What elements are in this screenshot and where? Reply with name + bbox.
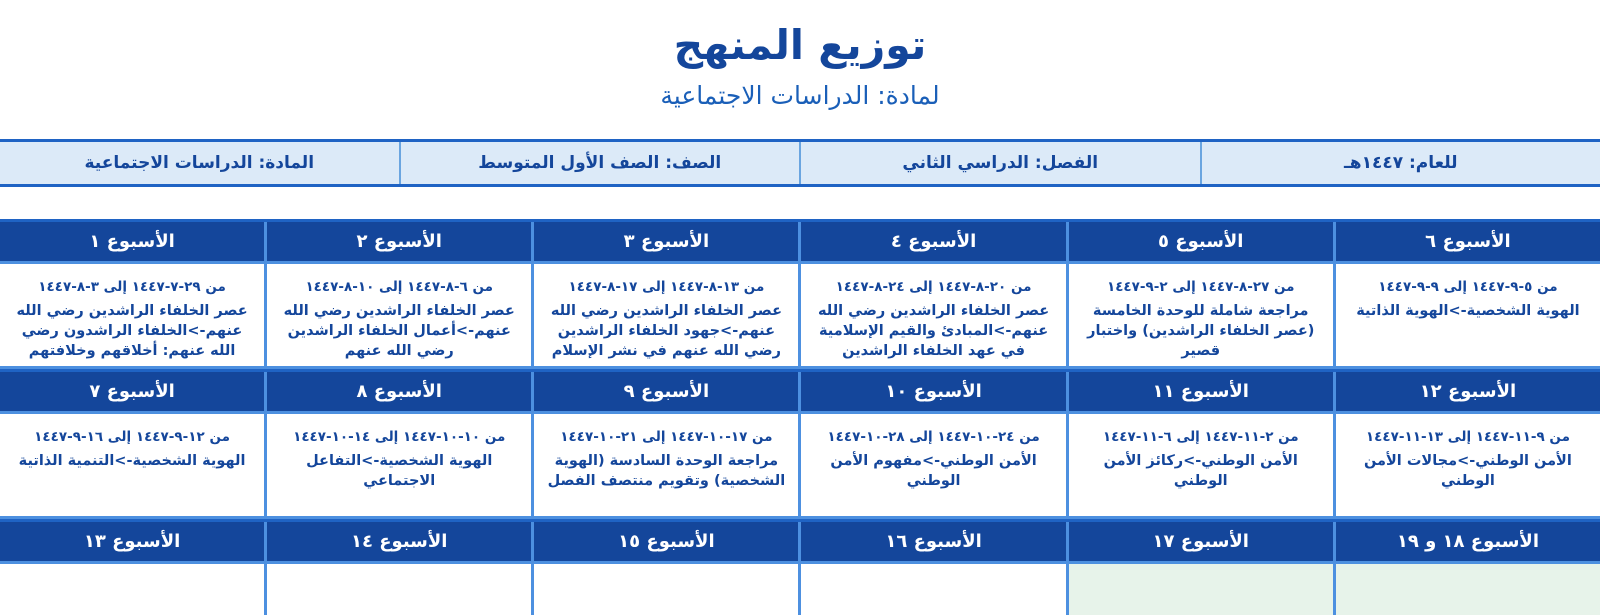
week-topic: الهوية الشخصية->التنمية الذاتية xyxy=(19,451,246,471)
week-topic: عصر الخلفاء الراشدين رضي الله عنهم->الخل… xyxy=(9,301,255,361)
week-dates: من ٢٠-٨-١٤٤٧ إلى ٢٤-٨-١٤٤٧ xyxy=(836,278,1032,296)
week-header-row: الأسبوع ١٨ و ١٩ الأسبوع ١٧ الأسبوع ١٦ ال… xyxy=(0,519,1600,564)
week-cell-9: من ١٧-١٠-١٤٤٧ إلى ٢١-١٠-١٤٤٧ مراجعة الوح… xyxy=(531,414,798,516)
week-cell-18-19 xyxy=(1333,564,1600,615)
week-header-3: الأسبوع ٣ xyxy=(531,222,798,261)
week-cell-4: من ٢٠-٨-١٤٤٧ إلى ٢٤-٨-١٤٤٧ عصر الخلفاء ا… xyxy=(798,264,1065,366)
week-header-4: الأسبوع ٤ xyxy=(798,222,1065,261)
week-dates: من ٢٧-٨-١٤٤٧ إلى ٢-٩-١٤٤٧ xyxy=(1107,278,1295,296)
week-cell-2: من ٦-٨-١٤٤٧ إلى ١٠-٨-١٤٤٧ عصر الخلفاء ال… xyxy=(264,264,531,366)
week-header-5: الأسبوع ٥ xyxy=(1066,222,1333,261)
week-dates: من ١٧-١٠-١٤٤٧ إلى ٢١-١٠-١٤٤٧ xyxy=(560,428,772,446)
week-topic: عصر الخلفاء الراشدين رضي الله عنهم->جهود… xyxy=(543,301,789,361)
week-topic: الهوية الشخصية->التفاعل الاجتماعي xyxy=(276,451,522,491)
week-topic: الهوية الشخصية->الهوية الذاتية xyxy=(1356,301,1579,321)
week-cell-15 xyxy=(531,564,798,615)
info-cell-grade: الصف: الصف الأول المتوسط xyxy=(399,142,800,184)
week-cell-3: من ١٣-٨-١٤٤٧ إلى ١٧-٨-١٤٤٧ عصر الخلفاء ا… xyxy=(531,264,798,366)
week-cell-5: من ٢٧-٨-١٤٤٧ إلى ٢-٩-١٤٤٧ مراجعة شاملة ل… xyxy=(1066,264,1333,366)
week-header-13: الأسبوع ١٣ xyxy=(0,522,264,561)
week-dates: من ٦-٨-١٤٤٧ إلى ١٠-٨-١٤٤٧ xyxy=(305,278,493,296)
week-header-12: الأسبوع ١٢ xyxy=(1333,372,1600,411)
week-topic: عصر الخلفاء الراشدين رضي الله عنهم->المب… xyxy=(810,301,1056,361)
week-header-1: الأسبوع ١ xyxy=(0,222,264,261)
course-info-bar: للعام: ١٤٤٧هـ الفصل: الدراسي الثاني الصف… xyxy=(0,139,1600,187)
week-dates: من ٢٤-١٠-١٤٤٧ إلى ٢٨-١٠-١٤٤٧ xyxy=(827,428,1039,446)
week-header-8: الأسبوع ٨ xyxy=(264,372,531,411)
info-cell-subject: المادة: الدراسات الاجتماعية xyxy=(0,142,399,184)
week-dates: من ١٢-٩-١٤٤٧ إلى ١٦-٩-١٤٤٧ xyxy=(34,428,230,446)
week-topic: الأمن الوطني->مفهوم الأمن الوطني xyxy=(810,451,1056,491)
page-subtitle: لمادة: الدراسات الاجتماعية xyxy=(0,81,1600,111)
week-header-16: الأسبوع ١٦ xyxy=(798,522,1065,561)
week-cell-10: من ٢٤-١٠-١٤٤٧ إلى ٢٨-١٠-١٤٤٧ الأمن الوطن… xyxy=(798,414,1065,516)
week-cell-7: من ١٢-٩-١٤٤٧ إلى ١٦-٩-١٤٤٧ الهوية الشخصي… xyxy=(0,414,264,516)
page-title: توزيع المنهج xyxy=(0,22,1600,69)
week-cell-6: من ٥-٩-١٤٤٧ إلى ٩-٩-١٤٤٧ الهوية الشخصية-… xyxy=(1333,264,1600,366)
week-header-14: الأسبوع ١٤ xyxy=(264,522,531,561)
week-cell-14 xyxy=(264,564,531,615)
week-dates: من ١٣-٨-١٤٤٧ إلى ١٧-٨-١٤٤٧ xyxy=(568,278,764,296)
week-header-row: الأسبوع ١٢ الأسبوع ١١ الأسبوع ١٠ الأسبوع… xyxy=(0,369,1600,414)
week-header-2: الأسبوع ٢ xyxy=(264,222,531,261)
info-cell-year: للعام: ١٤٤٧هـ xyxy=(1200,142,1600,184)
week-topic: الأمن الوطني->مجالات الأمن الوطني xyxy=(1345,451,1591,491)
week-cell-13 xyxy=(0,564,264,615)
week-header-11: الأسبوع ١١ xyxy=(1066,372,1333,411)
week-content-row xyxy=(0,564,1600,615)
week-topic: عصر الخلفاء الراشدين رضي الله عنهم->أعما… xyxy=(276,301,522,361)
week-topic: الأمن الوطني->ركائز الأمن الوطني xyxy=(1078,451,1324,491)
week-topic: مراجعة شاملة للوحدة الخامسة (عصر الخلفاء… xyxy=(1078,301,1324,361)
week-dates: من ٢٩-٧-١٤٤٧ إلى ٣-٨-١٤٤٧ xyxy=(38,278,226,296)
week-header-15: الأسبوع ١٥ xyxy=(531,522,798,561)
curriculum-distribution-page: توزيع المنهج لمادة: الدراسات الاجتماعية … xyxy=(0,0,1600,615)
week-header-9: الأسبوع ٩ xyxy=(531,372,798,411)
info-cell-semester: الفصل: الدراسي الثاني xyxy=(799,142,1200,184)
week-dates: من ١٠-١٠-١٤٤٧ إلى ١٤-١٠-١٤٤٧ xyxy=(293,428,505,446)
week-dates: من ٩-١١-١٤٤٧ إلى ١٣-١١-١٤٤٧ xyxy=(1366,428,1570,446)
week-cell-16 xyxy=(798,564,1065,615)
week-cell-1: من ٢٩-٧-١٤٤٧ إلى ٣-٨-١٤٤٧ عصر الخلفاء ال… xyxy=(0,264,264,366)
week-content-row: من ٩-١١-١٤٤٧ إلى ١٣-١١-١٤٤٧ الأمن الوطني… xyxy=(0,414,1600,519)
document-header: توزيع المنهج لمادة: الدراسات الاجتماعية xyxy=(0,0,1600,111)
weeks-table: الأسبوع ٦ الأسبوع ٥ الأسبوع ٤ الأسبوع ٣ … xyxy=(0,219,1600,615)
week-header-10: الأسبوع ١٠ xyxy=(798,372,1065,411)
week-dates: من ٢-١١-١٤٤٧ إلى ٦-١١-١٤٤٧ xyxy=(1103,428,1299,446)
week-cell-8: من ١٠-١٠-١٤٤٧ إلى ١٤-١٠-١٤٤٧ الهوية الشخ… xyxy=(264,414,531,516)
week-header-6: الأسبوع ٦ xyxy=(1333,222,1600,261)
week-header-17: الأسبوع ١٧ xyxy=(1066,522,1333,561)
week-header-row: الأسبوع ٦ الأسبوع ٥ الأسبوع ٤ الأسبوع ٣ … xyxy=(0,219,1600,264)
week-cell-17 xyxy=(1066,564,1333,615)
week-cell-12: من ٩-١١-١٤٤٧ إلى ١٣-١١-١٤٤٧ الأمن الوطني… xyxy=(1333,414,1600,516)
week-cell-11: من ٢-١١-١٤٤٧ إلى ٦-١١-١٤٤٧ الأمن الوطني-… xyxy=(1066,414,1333,516)
week-topic: مراجعة الوحدة السادسة (الهوية الشخصية) و… xyxy=(543,451,789,491)
week-header-7: الأسبوع ٧ xyxy=(0,372,264,411)
week-dates: من ٥-٩-١٤٤٧ إلى ٩-٩-١٤٤٧ xyxy=(1378,278,1557,296)
week-content-row: من ٥-٩-١٤٤٧ إلى ٩-٩-١٤٤٧ الهوية الشخصية-… xyxy=(0,264,1600,369)
week-header-18-19: الأسبوع ١٨ و ١٩ xyxy=(1333,522,1600,561)
